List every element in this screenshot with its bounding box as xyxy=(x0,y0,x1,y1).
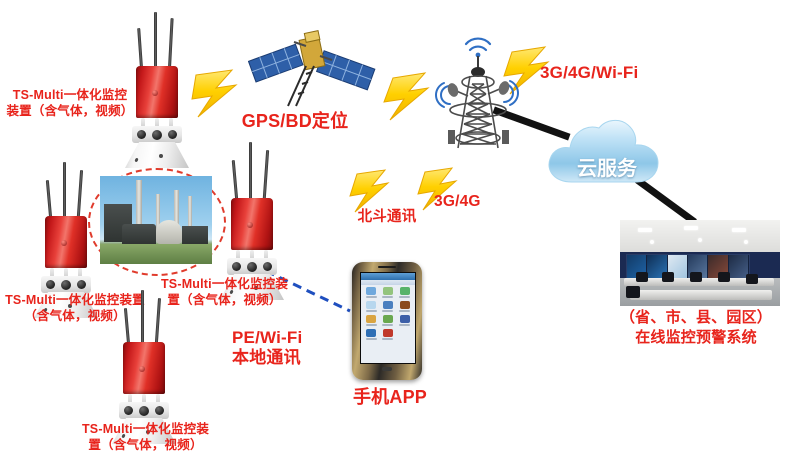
app-icon-11[interactable] xyxy=(381,329,396,340)
chair-6 xyxy=(626,286,640,298)
chair-4 xyxy=(718,272,730,282)
camera-port xyxy=(168,130,177,139)
tower-signal-top xyxy=(466,39,490,58)
app-icon-7[interactable] xyxy=(364,315,379,326)
device-sensor-band xyxy=(119,402,169,419)
satellite-icon xyxy=(248,12,376,108)
plant-ground xyxy=(100,244,212,264)
chair-1 xyxy=(636,272,648,282)
ceiling xyxy=(620,220,780,253)
gas-port-1 xyxy=(46,280,55,289)
app-icon-9[interactable] xyxy=(397,315,412,326)
console-desk-front xyxy=(630,290,772,300)
diagram-canvas: TS-Multi一体化监控 装置（含气体，视频） TS-Multi一体化监控装置… xyxy=(0,0,797,464)
monitoring-center-photo[interactable] xyxy=(620,220,780,306)
cloud-label: 云服务 xyxy=(536,152,678,181)
label-gps-bd: GPS/BD定位 xyxy=(220,110,370,133)
device-red-housing xyxy=(136,66,178,118)
bolt-beidou xyxy=(350,170,388,212)
label-device-bottom: TS-Multi一体化监控装 置（含气体，视频） xyxy=(68,422,223,453)
cell-tower-icon xyxy=(428,22,532,154)
app-icon-2[interactable] xyxy=(381,287,396,298)
ceiling-light-6 xyxy=(744,240,748,244)
chair-2 xyxy=(662,272,674,282)
base-dot-1 xyxy=(134,158,138,163)
tablet-titlebar xyxy=(361,280,415,285)
label-phone-app: 手机APP xyxy=(347,386,433,409)
app-icon-1[interactable] xyxy=(364,287,379,298)
tower-signal-left xyxy=(436,83,450,107)
chair-3 xyxy=(690,272,702,282)
ceiling-light-1 xyxy=(638,228,652,232)
device-cone-base xyxy=(125,142,189,168)
gas-port-1 xyxy=(232,262,241,271)
app-icon-8[interactable] xyxy=(381,315,396,326)
gas-port-2 xyxy=(139,406,149,416)
ceiling-light-3 xyxy=(732,228,746,232)
gas-port-2 xyxy=(152,130,162,140)
sensor-device-top[interactable] xyxy=(112,12,202,162)
cell-tower[interactable] xyxy=(428,22,532,154)
app-icon-3[interactable] xyxy=(397,287,412,298)
satellite[interactable] xyxy=(248,12,376,108)
bolt-satellite-tower xyxy=(384,73,428,120)
device-sensor-band xyxy=(227,258,277,275)
camera-port xyxy=(155,406,164,415)
label-3g4g: 3G/4G xyxy=(434,192,504,211)
device-red-housing xyxy=(123,342,165,394)
label-monitoring-center: （省、市、县、园区） 在线监控预警系统 xyxy=(596,308,796,347)
tablet-screen[interactable] xyxy=(360,272,416,364)
app-icon-10[interactable] xyxy=(364,329,379,340)
label-device-top: TS-Multi一体化监控 装置（含气体，视频） xyxy=(0,88,140,119)
device-red-housing xyxy=(45,216,87,268)
camera-port xyxy=(263,262,272,271)
gas-port-2 xyxy=(247,262,257,272)
cloud-service[interactable]: 云服务 xyxy=(536,112,678,194)
base-dot-2 xyxy=(159,154,163,158)
ceiling-light-2 xyxy=(684,226,698,230)
plant-tank xyxy=(156,220,182,244)
gas-port-2 xyxy=(61,280,71,290)
ceiling-light-5 xyxy=(698,238,702,242)
chair-5 xyxy=(746,274,758,284)
label-3g4g-wifi: 3G/4G/Wi-Fi xyxy=(540,62,720,83)
device-sensor-band xyxy=(132,126,182,143)
plant-building-right xyxy=(182,226,208,244)
ceiling-light-4 xyxy=(650,240,654,244)
plant-building-mid xyxy=(122,224,156,244)
camera-port xyxy=(77,280,86,289)
tablet-home-button[interactable] xyxy=(382,367,392,371)
device-red-housing xyxy=(231,198,273,250)
tablet-speaker xyxy=(378,266,396,268)
label-local-comm: PE/Wi-Fi 本地通讯 xyxy=(232,328,352,367)
gas-port-1 xyxy=(124,406,133,415)
label-beidou: 北斗通讯 xyxy=(342,208,432,226)
device-sensor-band xyxy=(41,276,91,293)
tablet-app-grid[interactable] xyxy=(364,287,412,340)
tablet-statusbar xyxy=(361,273,415,280)
app-icon-12 xyxy=(397,329,412,340)
app-icon-5[interactable] xyxy=(381,301,396,312)
mobile-app-tablet[interactable] xyxy=(352,262,422,380)
gas-port-1 xyxy=(137,130,146,139)
app-icon-4[interactable] xyxy=(364,301,379,312)
industrial-plant-photo xyxy=(100,176,212,264)
app-icon-6[interactable] xyxy=(397,301,412,312)
sensor-device-bottom[interactable] xyxy=(100,286,190,436)
